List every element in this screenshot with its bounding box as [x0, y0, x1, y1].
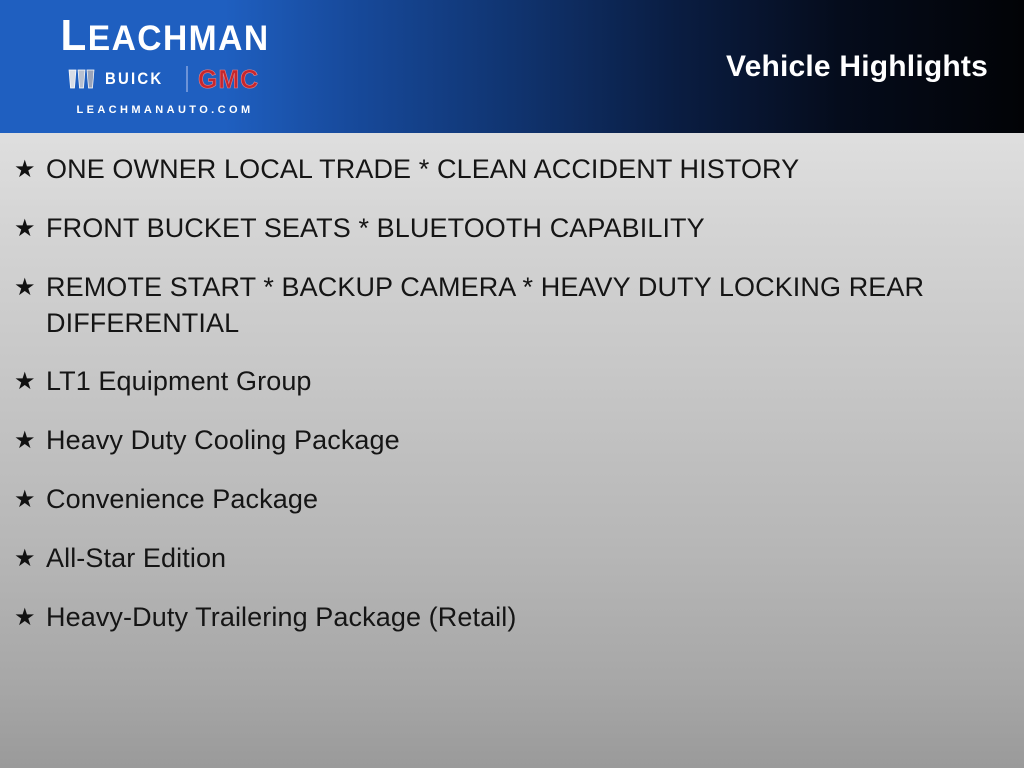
- dealer-logo: LEACHMAN BUICK GMC LEACHMANAUTO.COM: [18, 6, 310, 126]
- list-item-label: All-Star Edition: [46, 540, 994, 576]
- star-bullet-icon: ★: [14, 363, 46, 400]
- list-item-label: Heavy Duty Cooling Package: [46, 422, 994, 458]
- list-item-label: LT1 Equipment Group: [46, 363, 994, 399]
- list-item: ★ REMOTE START * BACKUP CAMERA * HEAVY D…: [0, 269, 1024, 341]
- brand-row: BUICK GMC: [24, 64, 306, 94]
- gmc-label: GMC: [198, 64, 259, 95]
- list-item-label: ONE OWNER LOCAL TRADE * CLEAN ACCIDENT H…: [46, 151, 994, 187]
- star-bullet-icon: ★: [14, 540, 46, 577]
- list-item-label: Convenience Package: [46, 481, 994, 517]
- star-bullet-icon: ★: [14, 210, 46, 247]
- brand-divider: [186, 66, 188, 92]
- list-item: ★ Heavy-Duty Trailering Package (Retail): [0, 599, 1024, 636]
- buick-tri-shield-icon: [68, 68, 98, 90]
- star-bullet-icon: ★: [14, 481, 46, 518]
- list-item-label: REMOTE START * BACKUP CAMERA * HEAVY DUT…: [46, 269, 994, 341]
- dealer-name-initial: L: [60, 11, 87, 60]
- list-item: ★ All-Star Edition: [0, 540, 1024, 577]
- list-item-label: Heavy-Duty Trailering Package (Retail): [46, 599, 994, 635]
- buick-label: BUICK: [105, 69, 163, 89]
- highlights-list: ★ ONE OWNER LOCAL TRADE * CLEAN ACCIDENT…: [0, 133, 1024, 636]
- list-item: ★ Convenience Package: [0, 481, 1024, 518]
- list-item: ★ FRONT BUCKET SEATS * BLUETOOTH CAPABIL…: [0, 210, 1024, 247]
- dealer-website: LEACHMANAUTO.COM: [24, 104, 306, 116]
- star-bullet-icon: ★: [14, 599, 46, 636]
- list-item: ★ ONE OWNER LOCAL TRADE * CLEAN ACCIDENT…: [0, 151, 1024, 188]
- dealer-name-remainder: EACHMAN: [88, 19, 270, 58]
- page-title: Vehicle Highlights: [726, 50, 988, 84]
- vehicle-highlights-slide: LEACHMAN BUICK GMC LEACHMANAUTO.COM: [0, 0, 1024, 768]
- list-item: ★ LT1 Equipment Group: [0, 363, 1024, 400]
- star-bullet-icon: ★: [14, 269, 46, 306]
- list-item: ★ Heavy Duty Cooling Package: [0, 422, 1024, 459]
- star-bullet-icon: ★: [14, 151, 46, 188]
- header-banner: LEACHMAN BUICK GMC LEACHMANAUTO.COM: [0, 0, 1024, 133]
- star-bullet-icon: ★: [14, 422, 46, 459]
- list-item-label: FRONT BUCKET SEATS * BLUETOOTH CAPABILIT…: [46, 210, 994, 246]
- dealer-name-wordmark: LEACHMAN: [30, 12, 301, 63]
